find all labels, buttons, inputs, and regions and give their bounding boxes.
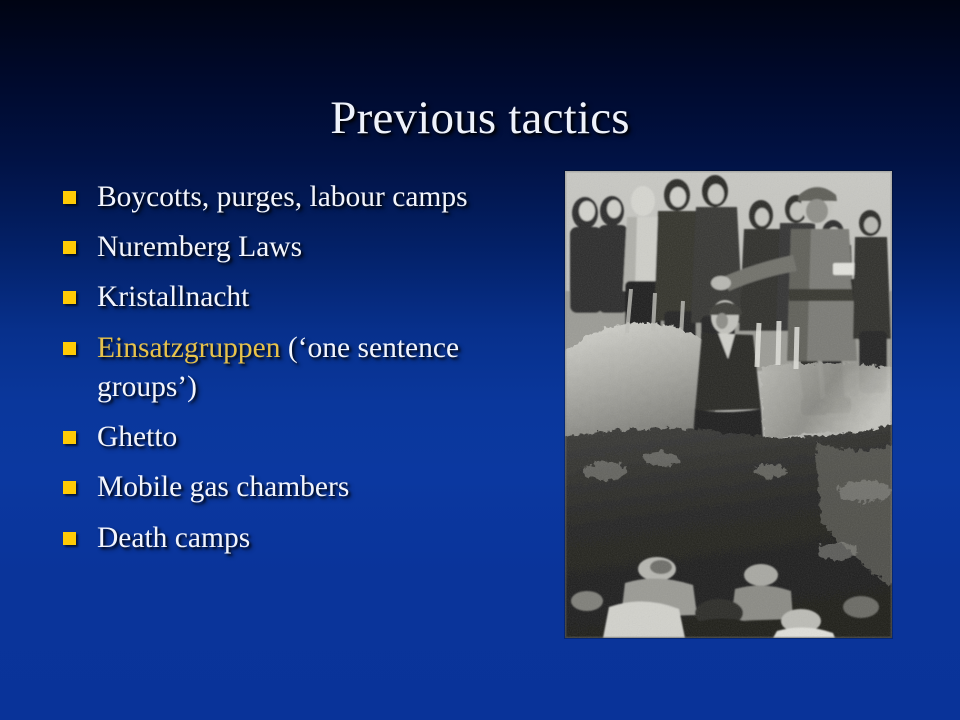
bullet-label: Mobile gas chambers <box>97 471 349 503</box>
bullet-label: Boycotts, purges, labour camps <box>97 181 468 213</box>
bullet-label: Ghetto <box>97 421 177 453</box>
square-bullet-icon <box>63 481 76 494</box>
square-bullet-icon <box>63 241 76 254</box>
bullet-accent-text: Einsatzgruppen <box>97 332 281 364</box>
bullet-item: Boycotts, purges, labour camps <box>58 178 528 217</box>
bullet-label: Kristallnacht <box>97 281 249 313</box>
bullet-item: Nuremberg Laws <box>58 228 528 267</box>
square-bullet-icon <box>63 532 76 545</box>
bullet-item: Death camps <box>58 519 528 558</box>
bullet-label: Death camps <box>97 522 250 554</box>
presentation-slide: Previous tactics Boycotts, purges, labou… <box>0 0 960 720</box>
page-title: Previous tactics <box>0 93 960 145</box>
slide-photo <box>565 171 892 638</box>
bullet-item: Mobile gas chambers <box>58 468 528 507</box>
square-bullet-icon <box>63 431 76 444</box>
bullet-item: Einsatzgruppen (‘one sentence groups’) <box>58 329 528 407</box>
square-bullet-icon <box>63 342 76 355</box>
bullet-list: Boycotts, purges, labour campsNuremberg … <box>58 178 528 569</box>
bullet-item: Ghetto <box>58 418 528 457</box>
square-bullet-icon <box>63 291 76 304</box>
bullet-label: Nuremberg Laws <box>97 231 302 263</box>
photo-image <box>565 171 892 638</box>
bullet-item: Kristallnacht <box>58 278 528 317</box>
square-bullet-icon <box>63 191 76 204</box>
